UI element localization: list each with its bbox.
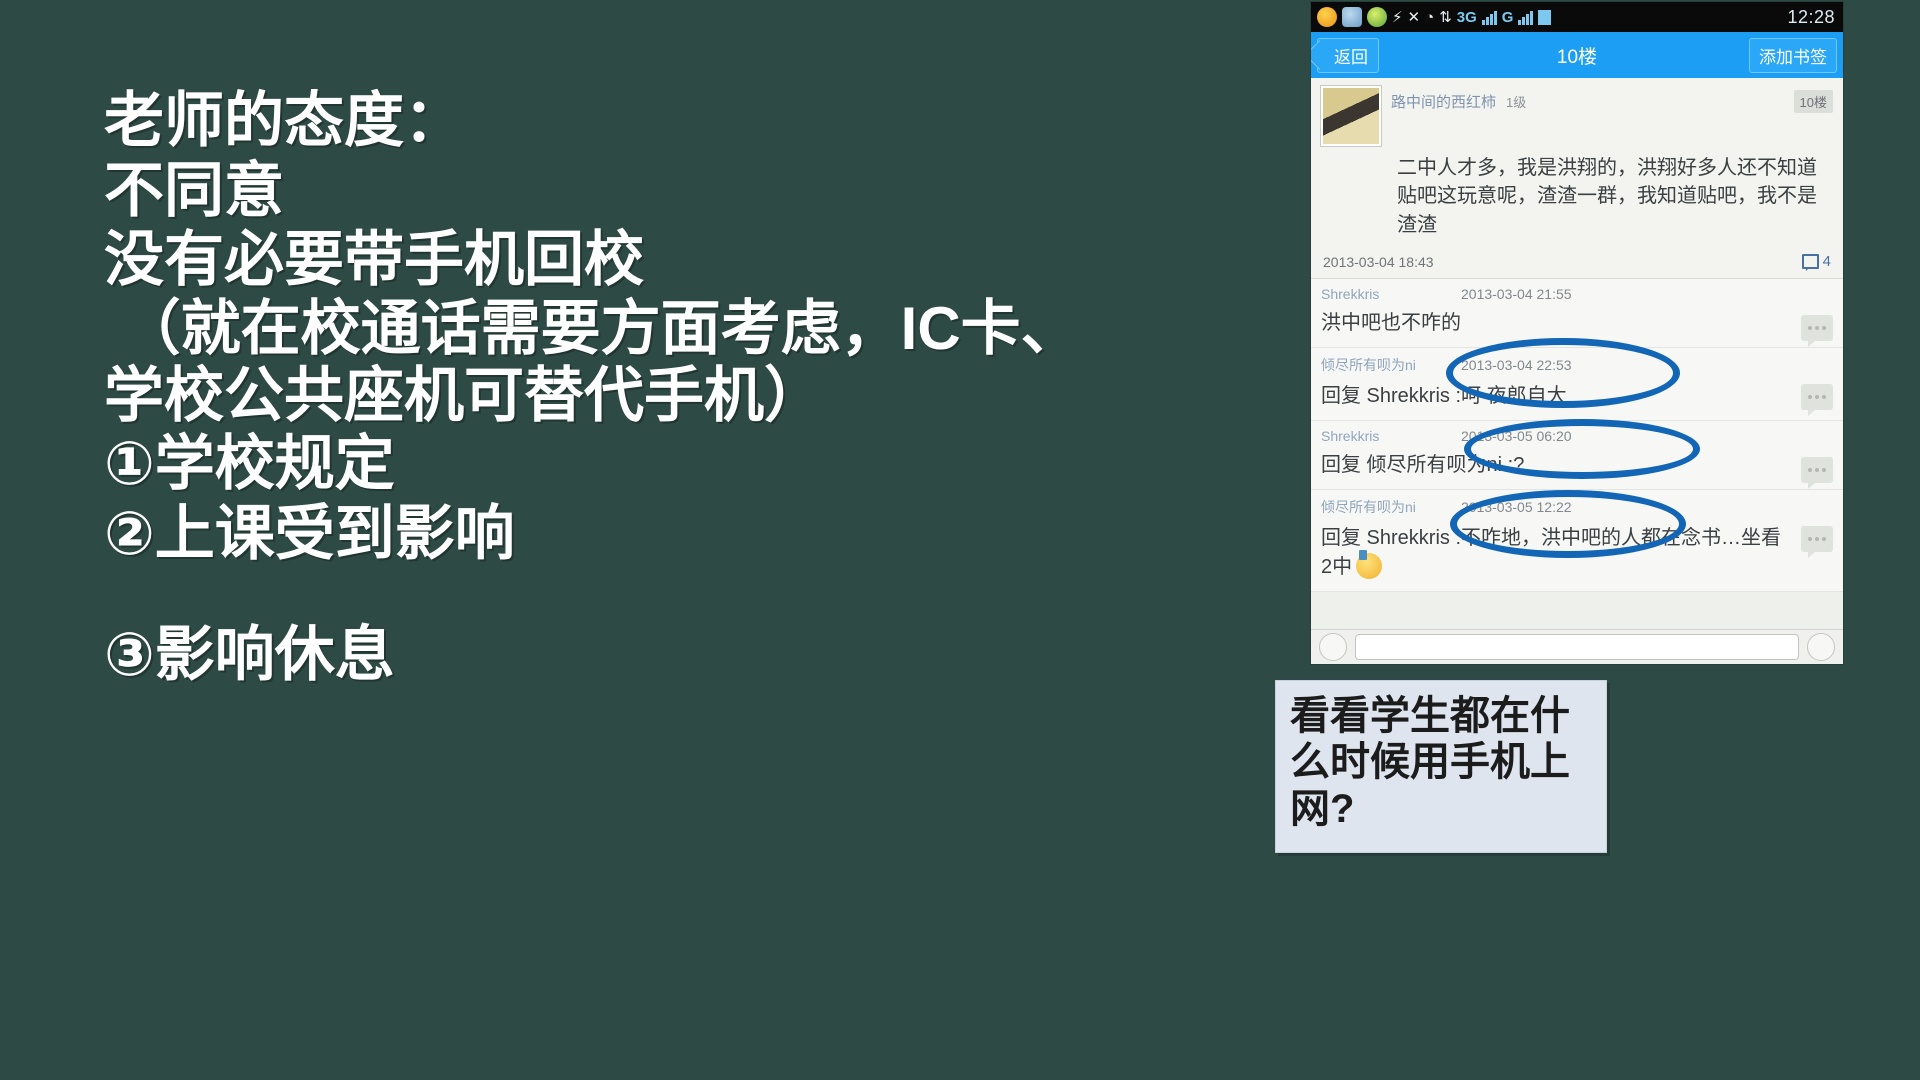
reply-header: 倾尽所有呗为ni 2013-03-04 22:53	[1321, 355, 1833, 375]
signal-bars-icon	[1482, 9, 1497, 25]
reply-text: 回复 Shrekkris :呵 夜郎自大	[1321, 382, 1833, 411]
caption-line-3: 网?	[1290, 786, 1592, 832]
reply-more-icon[interactable]	[1801, 526, 1833, 552]
phone-screenshot: ⚡ ✕ ◔ ⇅ 3G G 12:28 返回 10楼 添加书签 路中间的西红柿 1…	[1311, 2, 1843, 664]
back-button[interactable]: 返回	[1317, 38, 1379, 73]
reply-row[interactable]: 倾尽所有呗为ni 2013-03-05 12:22 回复 Shrekkris :…	[1311, 490, 1843, 592]
reply-text: 洪中吧也不咋的	[1321, 309, 1833, 338]
post-author[interactable]: 路中间的西红柿	[1391, 91, 1496, 112]
slide-line-paren-a: （就在校通话需要方面考虑，IC卡、	[104, 295, 1284, 362]
reply-more-icon[interactable]	[1801, 457, 1833, 483]
caption-line-2: 么时候用手机上	[1290, 739, 1592, 785]
reply-timestamp: 2013-03-05 06:20	[1461, 428, 1572, 444]
signal-bars-secondary-icon	[1518, 9, 1533, 25]
alarm-clock-icon: ◔	[1425, 10, 1434, 25]
reply-header: Shrekkris 2013-03-04 21:55	[1321, 286, 1833, 302]
reply-text: 回复 Shrekkris :不咋地，洪中吧的人都在念书…坐看2中	[1321, 524, 1833, 582]
post-header: 路中间的西红柿 1级 10楼	[1321, 86, 1833, 146]
post-timestamp: 2013-03-04 18:43	[1323, 254, 1434, 270]
slide-text-block: 老师的态度： 不同意 没有必要带手机回校 （就在校通话需要方面考虑，IC卡、 学…	[104, 86, 1284, 690]
reply-author[interactable]: Shrekkris	[1321, 428, 1461, 444]
reply-text: 回复 倾尽所有呗为ni :?	[1321, 451, 1833, 480]
post-level-badge: 1级	[1506, 92, 1526, 111]
slide-line-item-1: ①学校规定	[104, 429, 1284, 499]
post-meta: 路中间的西红柿 1级 10楼	[1391, 86, 1833, 113]
app-title-bar: 返回 10楼 添加书签	[1311, 32, 1843, 78]
post-reply-count[interactable]: 4	[1802, 253, 1831, 270]
network-3g-label: 3G	[1457, 9, 1477, 26]
post-reply-count-value: 4	[1823, 253, 1831, 270]
reply-list: Shrekkris 2013-03-04 21:55 洪中吧也不咋的 倾尽所有呗…	[1311, 279, 1843, 592]
app-orange-icon	[1317, 7, 1337, 27]
slide-line-title: 老师的态度：	[104, 86, 1284, 156]
sync-icon: ⇅	[1439, 10, 1452, 25]
slide-line-paren-b: 学校公共座机可替代手机）	[104, 362, 1284, 429]
reply-header: Shrekkris 2013-03-05 06:20	[1321, 428, 1833, 444]
flash-icon: ⚡	[1392, 10, 1403, 25]
reply-text-value: 回复 Shrekkris :不咋地，洪中吧的人都在念书…坐看2中	[1321, 527, 1781, 578]
reply-row[interactable]: 倾尽所有呗为ni 2013-03-04 22:53 回复 Shrekkris :…	[1311, 348, 1843, 421]
slide-line-item-2: ②上课受到影响	[104, 499, 1284, 569]
status-bar: ⚡ ✕ ◔ ⇅ 3G G 12:28	[1311, 2, 1843, 32]
reply-author[interactable]: 倾尽所有呗为ni	[1321, 355, 1461, 375]
caption-line-1: 看看学生都在什	[1290, 693, 1592, 739]
network-g-label: G	[1502, 9, 1514, 26]
slide-line-no-need: 没有必要带手机回校	[104, 225, 1284, 295]
caption-box: 看看学生都在什 么时候用手机上 网?	[1275, 680, 1607, 853]
reply-more-icon[interactable]	[1801, 315, 1833, 341]
add-bookmark-button[interactable]: 添加书签	[1749, 38, 1837, 73]
reply-more-icon[interactable]	[1801, 384, 1833, 410]
composer-send-icon[interactable]	[1807, 633, 1835, 661]
reply-timestamp: 2013-03-04 22:53	[1461, 357, 1572, 373]
reply-row[interactable]: Shrekkris 2013-03-05 06:20 回复 倾尽所有呗为ni :…	[1311, 421, 1843, 490]
reply-header: 倾尽所有呗为ni 2013-03-05 12:22	[1321, 497, 1833, 517]
status-clock: 12:28	[1787, 7, 1837, 28]
avatar[interactable]	[1321, 86, 1381, 146]
composer-bar	[1311, 629, 1843, 664]
post-card: 路中间的西红柿 1级 10楼 二中人才多，我是洪翔的，洪翔好多人还不知道贴吧这玩…	[1311, 78, 1843, 279]
reply-author[interactable]: Shrekkris	[1321, 286, 1461, 302]
post-footer: 2013-03-04 18:43 4	[1321, 253, 1833, 272]
composer-input[interactable]	[1355, 634, 1799, 660]
app-message-icon	[1342, 7, 1362, 27]
comment-bubble-icon	[1802, 254, 1819, 269]
battery-icon	[1538, 10, 1551, 25]
slide-line-item-3: ③影响休息	[104, 620, 1284, 690]
slide-canvas: 老师的态度： 不同意 没有必要带手机回校 （就在校通话需要方面考虑，IC卡、 学…	[0, 0, 1920, 1080]
post-floor-badge: 10楼	[1794, 90, 1833, 113]
reply-row[interactable]: Shrekkris 2013-03-04 21:55 洪中吧也不咋的	[1311, 279, 1843, 348]
reply-timestamp: 2013-03-04 21:55	[1461, 286, 1572, 302]
mute-icon: ✕	[1408, 10, 1421, 25]
reply-author[interactable]: 倾尽所有呗为ni	[1321, 497, 1461, 517]
reply-timestamp: 2013-03-05 12:22	[1461, 499, 1572, 515]
smiley-emoji-icon	[1356, 553, 1382, 579]
slide-line-disagree: 不同意	[104, 156, 1284, 226]
app-green-icon	[1367, 7, 1387, 27]
post-body-text: 二中人才多，我是洪翔的，洪翔好多人还不知道贴吧这玩意呢，渣渣一群，我知道贴吧，我…	[1397, 154, 1833, 239]
composer-avatar-icon[interactable]	[1319, 633, 1347, 661]
